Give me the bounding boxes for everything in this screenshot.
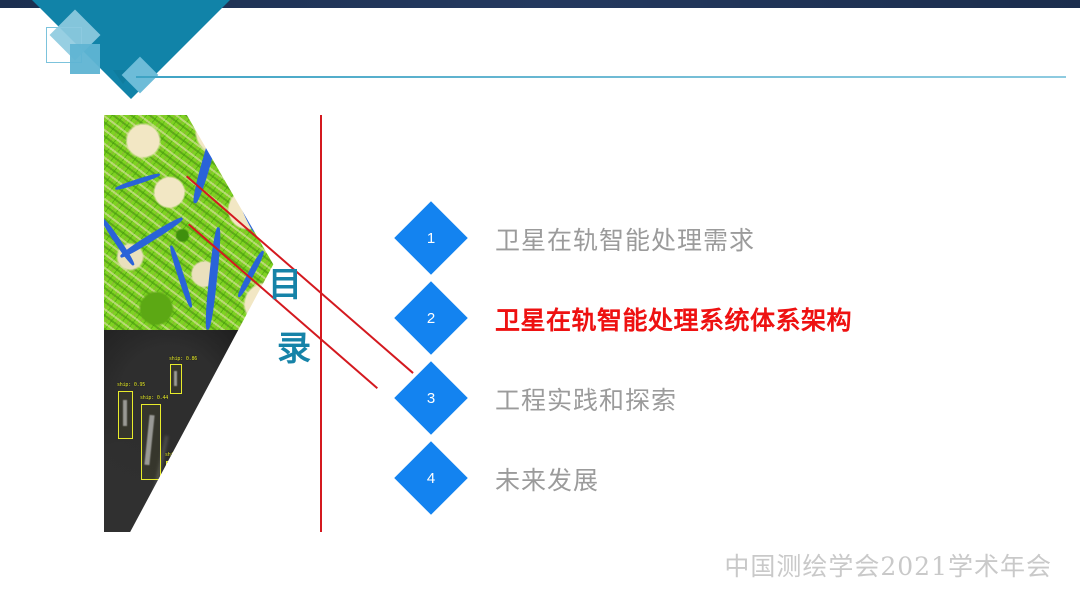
detection-box: [166, 461, 181, 521]
title-char-mu: 目: [250, 268, 320, 304]
river-feature: [191, 115, 227, 205]
detection-label: ship: 0.44: [140, 395, 168, 401]
toc-label-4: 未来发展: [495, 455, 599, 503]
table-of-contents: 1 卫星在轨智能处理需求 2 卫星在轨智能处理系统体系架构 3 工程实践和探索 …: [405, 205, 1045, 525]
ship-blob: [171, 472, 175, 508]
page-title-mulu: 目 录: [250, 268, 320, 367]
ship-blob: [174, 371, 177, 386]
decorative-square-filled: [70, 44, 100, 74]
sar-wake: [253, 447, 262, 520]
detection-label: ship: 0.36: [165, 452, 193, 458]
title-char-lu: 录: [268, 332, 320, 368]
detection-label: ship: 0.95: [117, 382, 145, 388]
toc-number-4: 4: [405, 452, 457, 504]
toc-number-2: 2: [405, 292, 457, 344]
footer-conference-name: 中国测绘学会2021学术年会: [724, 547, 1052, 583]
ship-blob: [144, 415, 154, 465]
detection-label: ship: 0.86: [169, 356, 197, 362]
river-feature: [168, 245, 194, 308]
river-feature: [203, 227, 222, 330]
toc-label-1: 卫星在轨智能处理需求: [495, 215, 755, 263]
river-feature: [219, 151, 259, 234]
toc-number-1: 1: [405, 212, 457, 264]
toc-label-3: 工程实践和探索: [495, 375, 677, 423]
header-divider-line: [136, 76, 1066, 78]
toc-item-4[interactable]: 4 未来发展: [405, 445, 1045, 525]
ship-blob: [123, 400, 127, 426]
river-feature: [254, 125, 301, 173]
toc-item-2[interactable]: 2 卫星在轨智能处理系统体系架构: [405, 285, 1045, 365]
sar-wake: [194, 391, 209, 492]
toc-item-1[interactable]: 1 卫星在轨智能处理需求: [405, 205, 1045, 285]
slide-canvas: ship: 0.95 ship: 0.44 ship: 0.86 ship: 0…: [0, 0, 1080, 607]
toc-item-3[interactable]: 3 工程实践和探索: [405, 365, 1045, 445]
river-feature: [114, 172, 161, 191]
toc-label-2: 卫星在轨智能处理系统体系架构: [495, 295, 852, 343]
detection-box: [141, 404, 161, 480]
toc-number-3: 3: [405, 372, 457, 424]
detection-box: [170, 364, 182, 394]
detection-box: [118, 391, 133, 439]
river-feature: [104, 217, 136, 267]
